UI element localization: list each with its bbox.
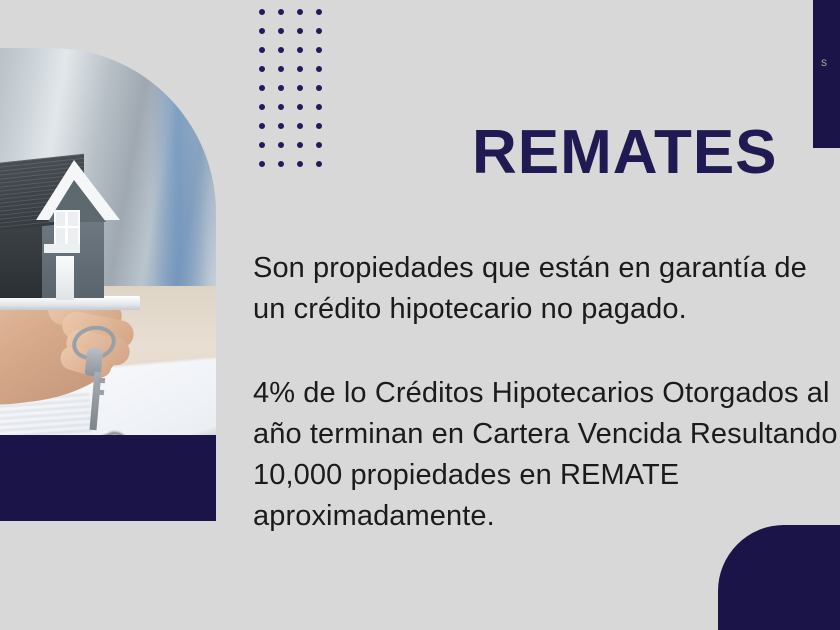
- decor-dot: [259, 123, 265, 129]
- decor-dot: [297, 85, 303, 91]
- navy-shape-bottom-right: [718, 525, 840, 630]
- decor-dot: [316, 47, 322, 53]
- slide-canvas: S REMATES Son propiedades que están en g…: [0, 0, 840, 630]
- decor-dot: [278, 47, 284, 53]
- body-text-block: Son propiedades que están en garantía de…: [253, 248, 840, 537]
- decor-dot: [259, 85, 265, 91]
- decor-dot: [259, 66, 265, 72]
- decor-dot: [259, 9, 265, 15]
- body-line: un crédito hipotecario no pagado.: [253, 289, 840, 330]
- body-line: año terminan en Cartera Vencida Resultan…: [253, 414, 840, 455]
- decor-dot: [316, 9, 322, 15]
- decor-dot: [297, 123, 303, 129]
- house-model-wall-dark: [0, 226, 42, 298]
- decor-dot: [278, 66, 284, 72]
- decor-dot: [297, 104, 303, 110]
- decor-dot: [316, 66, 322, 72]
- house-model-ledge: [44, 244, 80, 253]
- decor-dot: [297, 28, 303, 34]
- decor-dot: [278, 28, 284, 34]
- key-tooth: [99, 378, 105, 384]
- body-line: aproximadamente.: [253, 496, 840, 537]
- decor-dot: [297, 47, 303, 53]
- photo-blue-highlight: [150, 78, 206, 288]
- decor-dot: [278, 161, 284, 167]
- navy-tab-right: S: [813, 0, 840, 148]
- house-model-door: [56, 256, 74, 300]
- paragraph-definition: Son propiedades que están en garantía de…: [253, 248, 840, 330]
- photo-panel: [0, 48, 216, 436]
- decor-dot: [297, 142, 303, 148]
- navy-tab-letter: S: [821, 58, 827, 68]
- decor-dot: [259, 28, 265, 34]
- photo-image: [0, 48, 216, 436]
- decor-dot: [297, 66, 303, 72]
- body-line: 4% de lo Créditos Hipotecarios Otorgados…: [253, 373, 840, 414]
- decor-dot: [316, 161, 322, 167]
- decor-dot: [316, 85, 322, 91]
- dot-grid-decoration: [252, 2, 330, 162]
- decor-dot: [316, 28, 322, 34]
- decor-dot: [316, 142, 322, 148]
- decor-dot: [259, 142, 265, 148]
- decor-dot: [259, 104, 265, 110]
- house-model-window-front: [54, 210, 80, 246]
- decor-dot: [278, 123, 284, 129]
- paragraph-statistic: 4% de lo Créditos Hipotecarios Otorgados…: [253, 373, 840, 537]
- decor-dot: [259, 161, 265, 167]
- decor-dot: [278, 9, 284, 15]
- decor-dot: [259, 47, 265, 53]
- decor-dot: [297, 9, 303, 15]
- body-line: Son propiedades que están en garantía de: [253, 248, 840, 289]
- decor-dot: [316, 104, 322, 110]
- decor-dot: [316, 123, 322, 129]
- navy-block-bottom-left: [0, 435, 216, 521]
- decor-dot: [278, 104, 284, 110]
- decor-dot: [278, 85, 284, 91]
- page-title: REMATES: [472, 118, 778, 188]
- body-line: 10,000 propiedades en REMATE: [253, 455, 840, 496]
- key-tooth: [99, 390, 104, 395]
- decor-dot: [278, 142, 284, 148]
- decor-dot: [297, 161, 303, 167]
